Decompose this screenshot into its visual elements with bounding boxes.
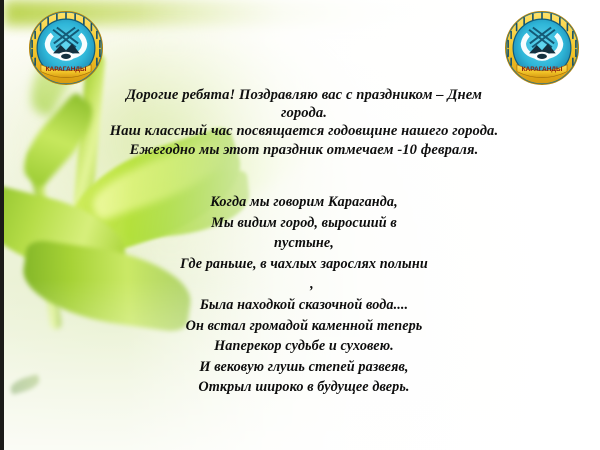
emblem-karaganda-right: КАРАГАНДЫ <box>504 10 580 86</box>
poem-line-9: И вековую глушь степей развеяв, <box>44 357 564 378</box>
poem-line-2: Мы видим город, выросший в <box>44 213 564 234</box>
poem-line-8: Наперекор судьбе и суховею. <box>44 336 564 357</box>
poem-line-7: Он встал громадой каменной теперь <box>44 316 564 337</box>
poem-line-5: , <box>44 274 564 295</box>
headline-line-4: Ежегодно мы этот праздник отмечаем -10 ф… <box>48 141 560 159</box>
emblem-karaganda-left: КАРАГАНДЫ <box>28 10 104 86</box>
headline-block: Дорогие ребята! Поздравляю вас с праздни… <box>48 86 560 159</box>
poem-line-10: Открыл широко в будущее дверь. <box>44 377 564 398</box>
slide-canvas: КАРАГАНДЫ <box>0 0 600 450</box>
headline-line-1: Дорогие ребята! Поздравляю вас с праздни… <box>48 86 560 104</box>
poem-block: Когда мы говорим Караганда, Мы видим гор… <box>44 192 564 398</box>
leaf-speck <box>9 374 41 395</box>
poem-line-4: Где раньше, в чахлых зарослях полыни <box>44 254 564 275</box>
emblem-banner-text-left: КАРАГАНДЫ <box>46 66 87 73</box>
poem-line-3: пустыне, <box>44 233 564 254</box>
headline-line-3: Наш классный час посвящается годовщине н… <box>48 122 560 140</box>
poem-line-1: Когда мы говорим Караганда, <box>44 192 564 213</box>
emblem-banner-text-right: КАРАГАНДЫ <box>522 66 563 73</box>
headline-line-2: города. <box>48 104 560 122</box>
poem-line-6: Была находкой сказочной вода.... <box>44 295 564 316</box>
